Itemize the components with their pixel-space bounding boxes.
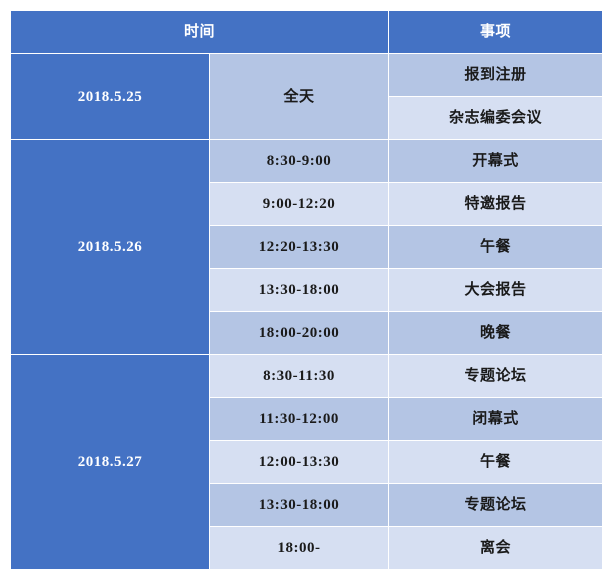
event-cell: 大会报告 — [389, 269, 603, 312]
column-header-event: 事项 — [389, 11, 603, 54]
event-cell: 午餐 — [389, 441, 603, 484]
event-cell: 专题论坛 — [389, 484, 603, 527]
time-cell: 13:30-18:00 — [210, 484, 389, 527]
table-body: 2018.5.25全天报到注册杂志编委会议2018.5.268:30-9:00开… — [11, 54, 603, 570]
event-cell: 晚餐 — [389, 312, 603, 355]
date-cell: 2018.5.25 — [11, 54, 210, 140]
time-cell: 8:30-9:00 — [210, 140, 389, 183]
event-cell: 午餐 — [389, 226, 603, 269]
schedule-row: 2018.5.25全天报到注册 — [11, 54, 603, 97]
time-cell: 12:00-13:30 — [210, 441, 389, 484]
event-cell: 专题论坛 — [389, 355, 603, 398]
conference-schedule-table: 时间 事项 2018.5.25全天报到注册杂志编委会议2018.5.268:30… — [10, 10, 603, 570]
time-cell: 全天 — [210, 54, 389, 140]
schedule-container: 时间 事项 2018.5.25全天报到注册杂志编委会议2018.5.268:30… — [10, 10, 602, 566]
header-row: 时间 事项 — [11, 11, 603, 54]
time-cell: 12:20-13:30 — [210, 226, 389, 269]
column-header-time: 时间 — [11, 11, 389, 54]
event-cell: 杂志编委会议 — [389, 97, 603, 140]
schedule-row: 2018.5.278:30-11:30专题论坛 — [11, 355, 603, 398]
time-cell: 8:30-11:30 — [210, 355, 389, 398]
time-cell: 11:30-12:00 — [210, 398, 389, 441]
time-cell: 18:00-20:00 — [210, 312, 389, 355]
event-cell: 报到注册 — [389, 54, 603, 97]
time-cell: 9:00-12:20 — [210, 183, 389, 226]
event-cell: 离会 — [389, 527, 603, 570]
table-header: 时间 事项 — [11, 11, 603, 54]
schedule-row: 2018.5.268:30-9:00开幕式 — [11, 140, 603, 183]
time-cell: 18:00- — [210, 527, 389, 570]
date-cell: 2018.5.27 — [11, 355, 210, 570]
time-cell: 13:30-18:00 — [210, 269, 389, 312]
event-cell: 特邀报告 — [389, 183, 603, 226]
event-cell: 闭幕式 — [389, 398, 603, 441]
event-cell: 开幕式 — [389, 140, 603, 183]
date-cell: 2018.5.26 — [11, 140, 210, 355]
